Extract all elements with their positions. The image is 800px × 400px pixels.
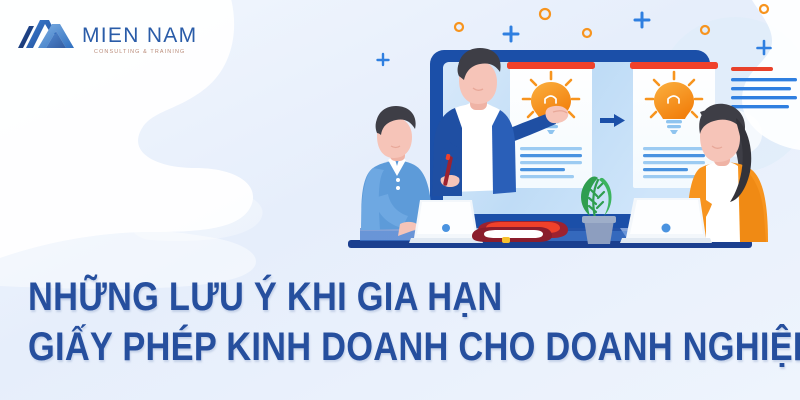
- headline-line-2: GIẤY PHÉP KINH DOANH CHO DOANH NGHIỆP: [28, 322, 682, 372]
- banner-canvas: MIEN NAM CONSULTING & TRAINING NHỮNG LƯU…: [0, 0, 800, 400]
- logo-name: MIEN NAM: [82, 25, 197, 46]
- laptop-left: [409, 200, 483, 243]
- brand-logo[interactable]: MIEN NAM CONSULTING & TRAINING: [16, 18, 197, 56]
- page-title: NHỮNG LƯU Ý KHI GIA HẠN GIẤY PHÉP KINH D…: [28, 272, 788, 372]
- headline-line-1: NHỮNG LƯU Ý KHI GIA HẠN: [28, 272, 682, 322]
- logo-tagline: CONSULTING & TRAINING: [82, 50, 197, 55]
- mountain-chevrons-icon: [16, 18, 76, 56]
- laptop-right: [620, 198, 712, 243]
- logo-text-block: MIEN NAM CONSULTING & TRAINING: [82, 18, 197, 55]
